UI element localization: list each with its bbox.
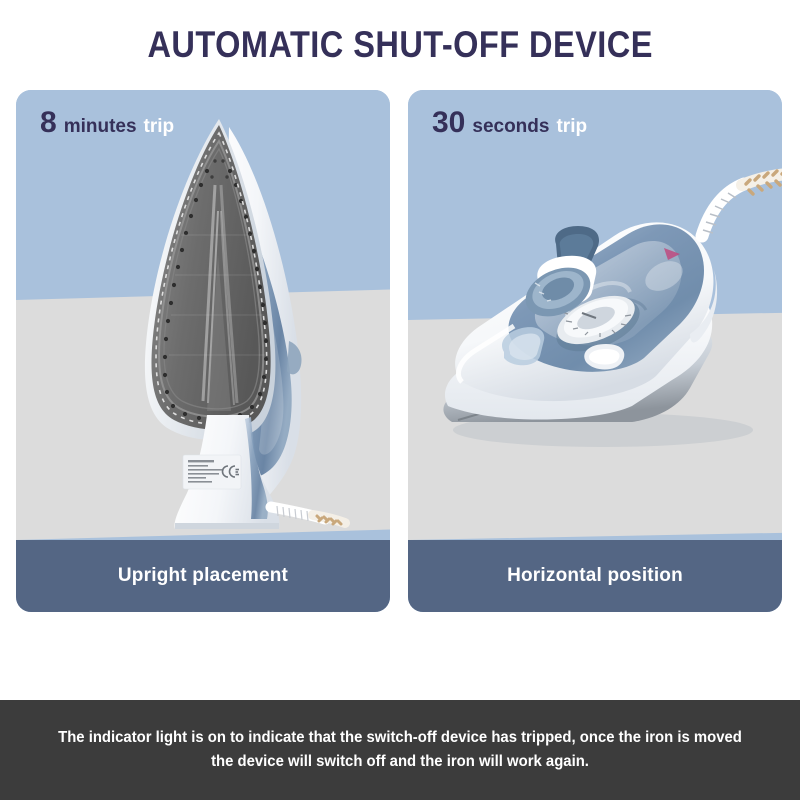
duration-number: 8 xyxy=(40,108,57,138)
footer-bar: The indicator light is on to indicate th… xyxy=(0,700,800,800)
side-control-nub xyxy=(287,341,302,374)
power-cord xyxy=(702,170,782,236)
duration-suffix: trip xyxy=(144,117,175,136)
comparison-panels: 8 minutes trip xyxy=(0,90,800,612)
panel-horizontal-heading: 30 seconds trip xyxy=(432,108,587,138)
panel-upright: 8 minutes trip xyxy=(16,90,390,612)
panel-upright-heading: 8 minutes trip xyxy=(40,108,174,138)
page-title: AUTOMATIC SHUT-OFF DEVICE xyxy=(147,24,652,66)
iron-horizontal-image xyxy=(418,130,782,500)
duration-number: 30 xyxy=(432,108,465,138)
duration-unit: seconds xyxy=(472,117,549,136)
steam-buttons xyxy=(584,344,624,370)
page-header: AUTOMATIC SHUT-OFF DEVICE xyxy=(0,0,800,90)
footer-text: The indicator light is on to indicate th… xyxy=(54,726,745,774)
duration-unit: minutes xyxy=(64,117,137,136)
caption-upright-text: Upright placement xyxy=(118,565,288,587)
panel-horizontal: 30 seconds trip xyxy=(408,90,782,612)
caption-horizontal: Horizontal position xyxy=(408,540,782,612)
power-cord xyxy=(271,506,345,524)
heel-foot xyxy=(175,523,279,529)
caption-horizontal-text: Horizontal position xyxy=(507,565,683,587)
iron-upright-image xyxy=(111,115,341,535)
product-label xyxy=(183,455,241,489)
caption-upright: Upright placement xyxy=(16,540,390,612)
duration-suffix: trip xyxy=(556,117,587,136)
